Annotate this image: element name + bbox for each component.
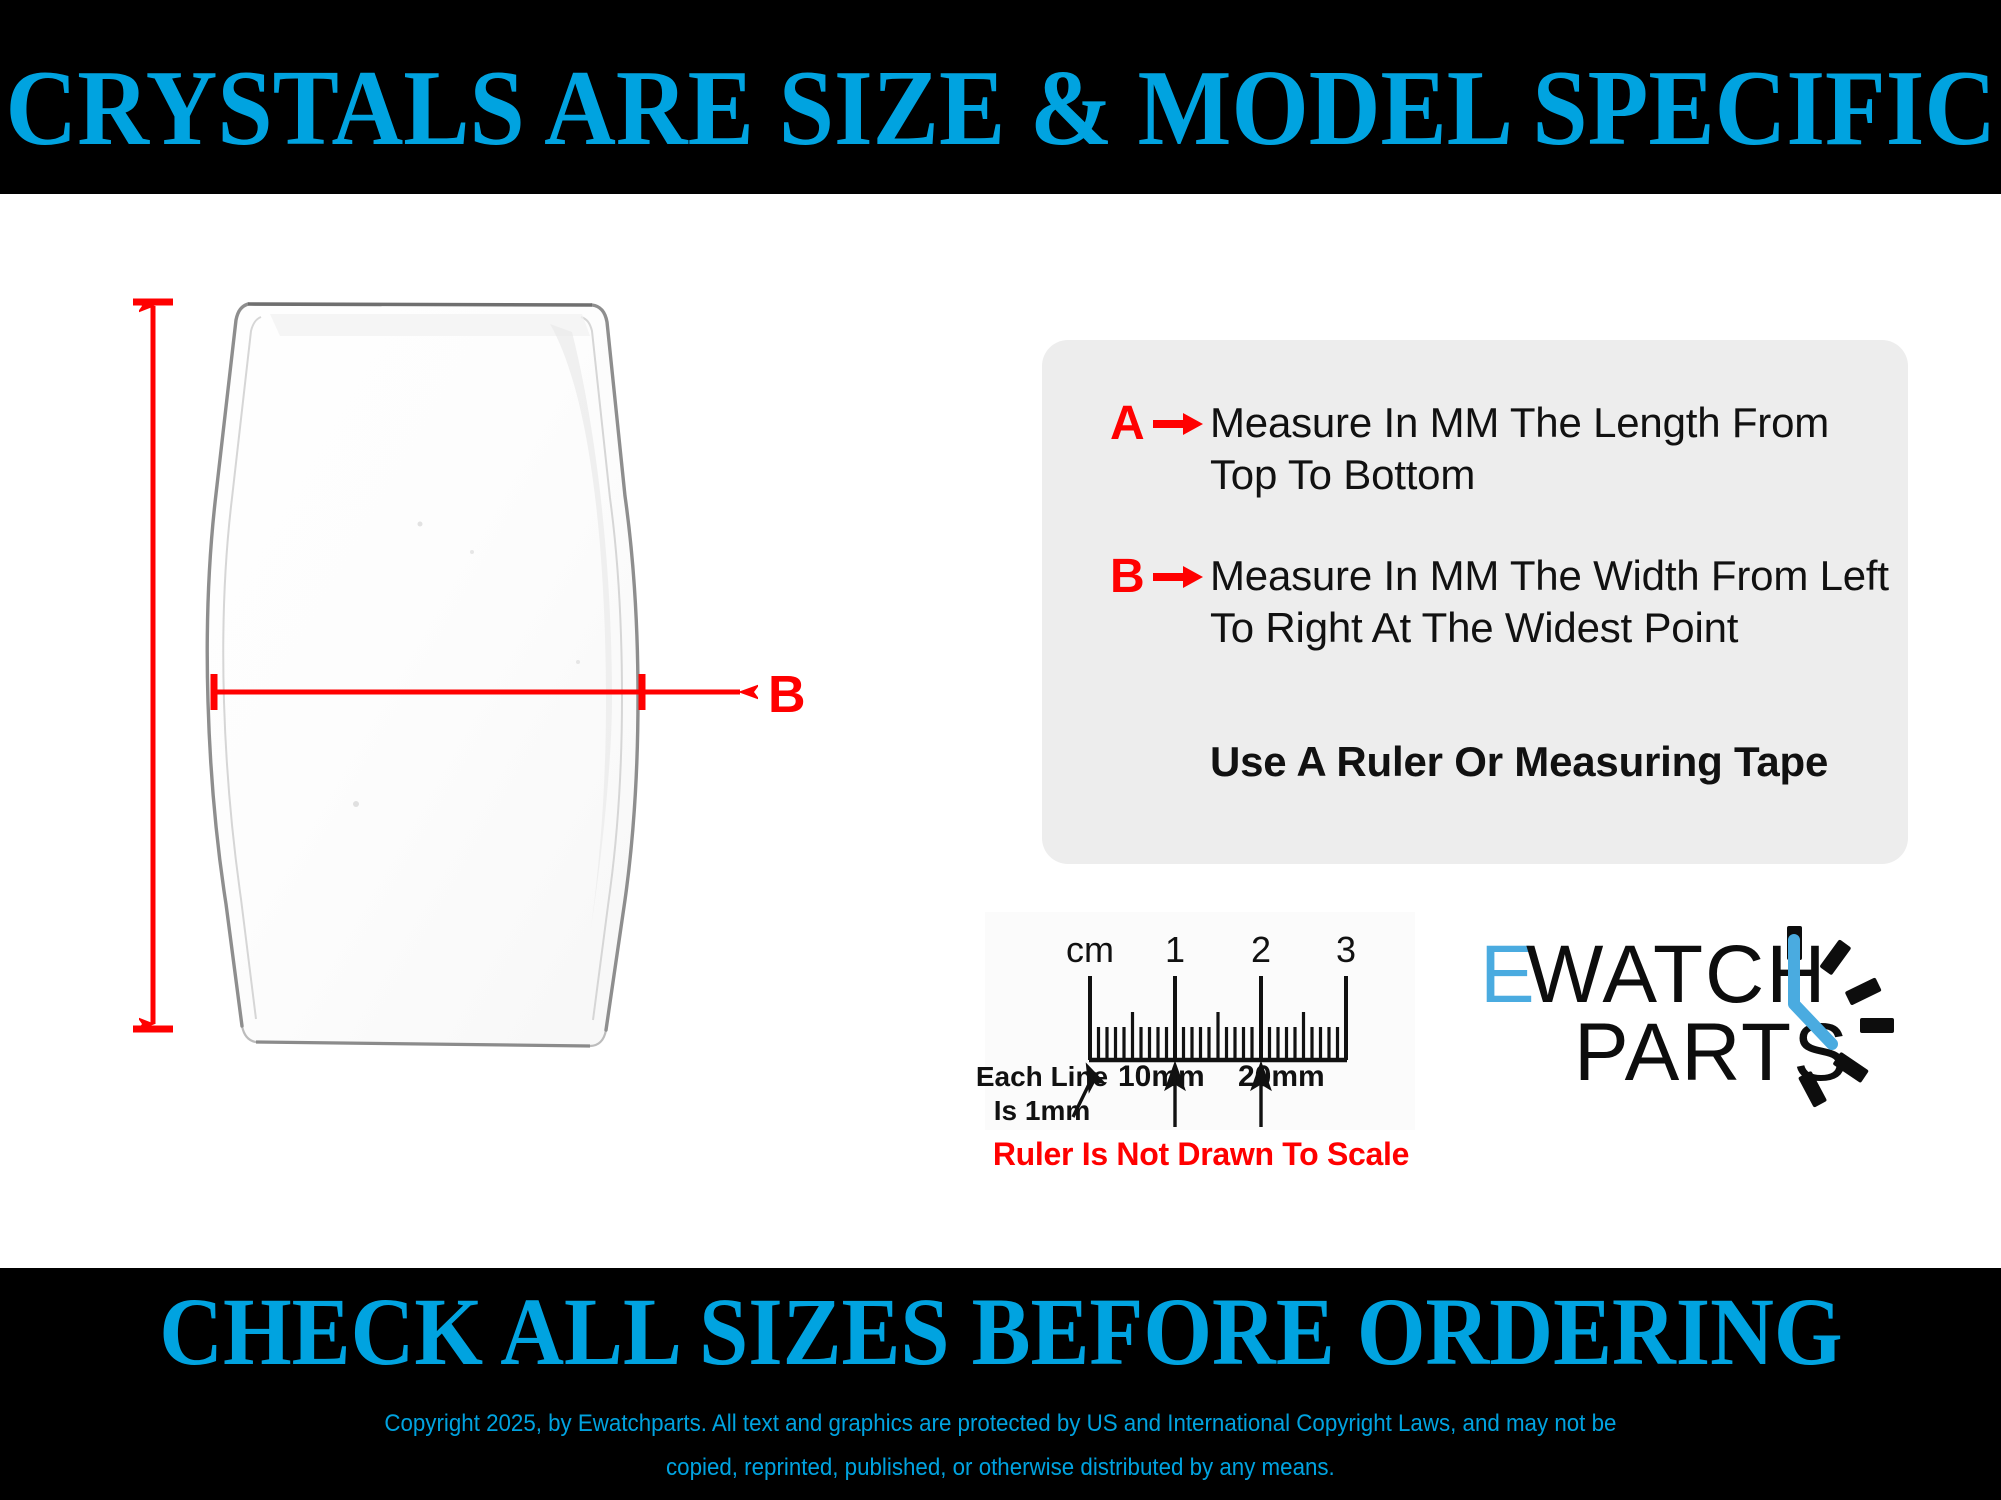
instruction-marker-b: B bbox=[1110, 550, 1148, 604]
instruction-marker-a: A bbox=[1110, 397, 1148, 451]
ruler-scale-disclaimer: Ruler Is Not Drawn To Scale bbox=[981, 1136, 1421, 1173]
copyright-line-1: Copyright 2025, by Ewatchparts. All text… bbox=[384, 1402, 1616, 1446]
instruction-text-b: Measure In MM The Width From Left To Rig… bbox=[1210, 550, 1890, 654]
ruler-label-2: 2 bbox=[1251, 929, 1271, 970]
ruler-callout-each-line: Each Line Is 1mm bbox=[967, 1060, 1117, 1128]
ewatchparts-logo: E WATCH PARTS bbox=[1478, 916, 1898, 1116]
main-content-area: A B A Measure In MM The Length From Top … bbox=[0, 194, 2001, 1268]
ruler-label-3: 3 bbox=[1336, 929, 1356, 970]
ruler-illustration: cm 1 2 3 Each Line Is 1mm 10mm 20mm bbox=[985, 912, 1415, 1180]
use-ruler-note: Use A Ruler Or Measuring Tape bbox=[1210, 738, 1828, 786]
instruction-row-a: A Measure In MM The Length From Top To B… bbox=[1110, 397, 1890, 501]
ruler-label-1: 1 bbox=[1165, 929, 1185, 970]
ruler-callout-line-2: Is 1mm bbox=[967, 1094, 1117, 1128]
dimension-label-b: B bbox=[768, 666, 806, 724]
arrow-right-icon bbox=[1148, 550, 1210, 604]
ruler-callout-line-1: Each Line bbox=[967, 1060, 1117, 1094]
instruction-row-b: B Measure In MM The Width From Left To R… bbox=[1110, 550, 1890, 654]
crystal-measurement-diagram: A B bbox=[120, 284, 940, 1064]
ruler-scale bbox=[1089, 976, 1347, 1060]
instruction-text-a: Measure In MM The Length From Top To Bot… bbox=[1210, 397, 1890, 501]
top-banner: CRYSTALS ARE SIZE & MODEL SPECIFIC bbox=[0, 0, 2001, 194]
copyright-notice: Copyright 2025, by Ewatchparts. All text… bbox=[384, 1402, 1616, 1490]
top-banner-headline: CRYSTALS ARE SIZE & MODEL SPECIFIC bbox=[5, 55, 1996, 163]
copyright-line-2: copied, reprinted, published, or otherwi… bbox=[384, 1446, 1616, 1490]
bottom-banner-headline: CHECK ALL SIZES BEFORE ORDERING bbox=[159, 1284, 1842, 1380]
bottom-banner: CHECK ALL SIZES BEFORE ORDERING Copyrigh… bbox=[0, 1268, 2001, 1500]
watch-crystal-shape bbox=[207, 304, 638, 1046]
instructions-panel: A Measure In MM The Length From Top To B… bbox=[1042, 340, 1908, 864]
ruler-callout-20mm: 20mm bbox=[1238, 1060, 1325, 1094]
ruler-label-cm: cm bbox=[1066, 929, 1114, 970]
ruler-callout-10mm: 10mm bbox=[1118, 1060, 1205, 1094]
arrow-right-icon bbox=[1148, 397, 1210, 451]
measurement-arrow-a bbox=[133, 302, 173, 1029]
